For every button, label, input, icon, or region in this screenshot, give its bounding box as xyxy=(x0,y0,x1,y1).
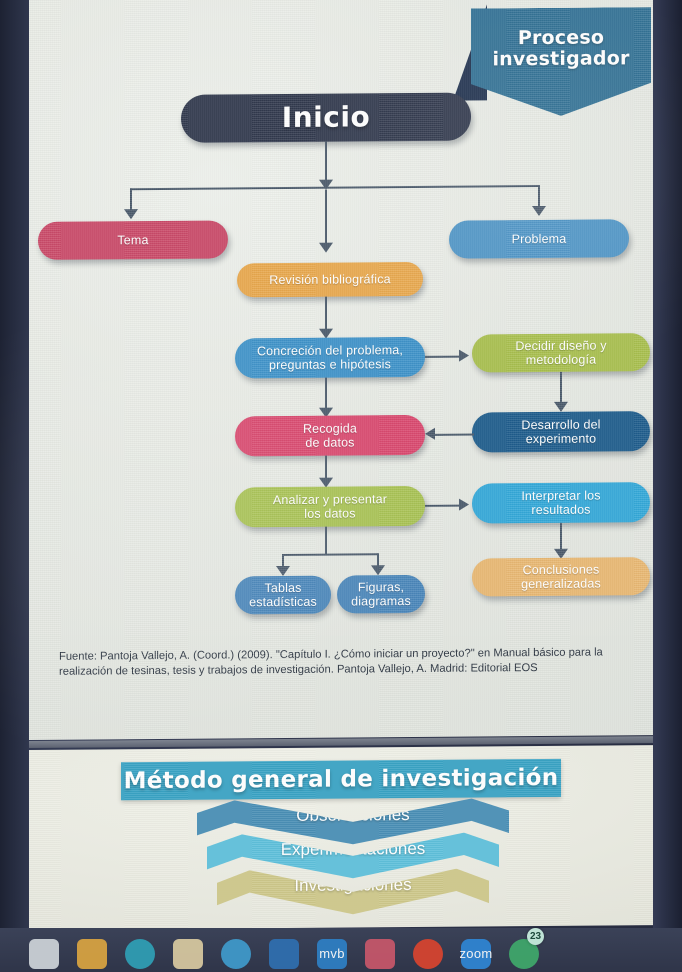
node-figuras-line-2: diagramas xyxy=(351,594,411,609)
arrow-to-tema xyxy=(124,209,138,219)
books-icon[interactable] xyxy=(365,939,395,969)
connector-analizar-down xyxy=(325,527,327,555)
arrow-to-problema xyxy=(532,206,546,216)
node-figuras-diagramas: Figuras, diagramas xyxy=(337,575,425,614)
connector-desarrollo-to-recogida xyxy=(434,434,474,436)
mvb-app-icon[interactable]: mvb xyxy=(317,939,347,969)
arrow-to-desarrollo xyxy=(554,402,568,412)
briefcase-icon[interactable] xyxy=(173,939,203,969)
arrow-to-interpretar xyxy=(459,499,469,511)
taskbar-item-outlook[interactable] xyxy=(262,931,306,970)
media-disc-icon[interactable] xyxy=(125,939,155,969)
node-inicio: Inicio xyxy=(181,93,471,143)
node-concrecion-line-1: Concreción del problema, xyxy=(257,343,403,359)
connector-concrecion-to-recogida xyxy=(325,378,327,410)
taskbar-item-chrome[interactable] xyxy=(406,931,450,970)
slide-proceso-investigador: Proceso investigador Inicio Tema xyxy=(29,0,653,740)
taskbar-item-briefcase[interactable] xyxy=(166,931,210,970)
connector-recogida-to-analizar xyxy=(325,456,327,480)
connector-decidir-to-desarrollo xyxy=(560,372,562,404)
connector-concrecion-to-decidir xyxy=(425,356,461,358)
taskbar-item-whatsapp[interactable]: 23 xyxy=(502,931,546,970)
node-concrecion: Concreción del problema, preguntas e hip… xyxy=(235,337,425,378)
node-problema: Problema xyxy=(449,219,629,258)
node-concrecion-line-2: preguntas e hipótesis xyxy=(269,357,391,372)
node-desarrollo-line-2: experimento xyxy=(526,432,596,447)
node-revision-bibliografica: Revisión bibliográfica xyxy=(237,262,423,297)
node-tema-label: Tema xyxy=(117,233,148,248)
taskbar-item-mvb-app[interactable]: mvb xyxy=(310,931,354,970)
connector-bus-right-drop xyxy=(538,185,540,208)
arrow-to-tablas xyxy=(276,566,290,576)
connector-revision-to-concrecion xyxy=(325,297,327,331)
connector-bus-horizontal xyxy=(130,185,539,190)
arrow-to-recogida-left xyxy=(425,428,435,440)
arrow-bus-center-tick xyxy=(319,180,333,190)
paint-icon[interactable] xyxy=(221,939,251,969)
taskbar-item-start-button[interactable] xyxy=(22,931,66,970)
taskbar-item-zoom[interactable]: zoom xyxy=(454,931,498,970)
taskbar[interactable]: mvb zoom 23 xyxy=(0,928,682,972)
connector-interpretar-to-conclusiones xyxy=(560,523,562,551)
taskbar-item-file-explorer[interactable] xyxy=(70,931,114,970)
start-button-icon[interactable] xyxy=(29,939,59,969)
node-analizar-line-2: los datos xyxy=(304,506,355,521)
source-citation: Fuente: Pantoja Vallejo, A. (Coord.) (20… xyxy=(59,645,639,679)
node-recogida-line-1: Recogida xyxy=(303,421,357,436)
node-tablas-line-2: estadísticas xyxy=(249,595,317,610)
node-recogida-datos: Recogida de datos xyxy=(235,415,425,456)
node-conclusiones-generalizadas: Conclusiones generalizadas xyxy=(472,557,650,596)
slide-metodo-general: Método general de investigación Observac… xyxy=(29,745,653,930)
taskbar-item-paint[interactable] xyxy=(214,931,258,970)
node-figuras-line-1: Figuras, xyxy=(358,580,404,595)
arrow-to-decidir xyxy=(459,350,469,362)
node-interpretar-resultados: Interpretar los resultados xyxy=(472,482,650,523)
bezel-right xyxy=(653,0,682,930)
node-desarrollo-line-1: Desarrollo del xyxy=(521,417,600,432)
connector-center-to-revision xyxy=(325,190,327,245)
zoom-icon[interactable]: zoom xyxy=(461,939,491,969)
connector-bus-left-drop xyxy=(130,188,132,211)
outlook-icon[interactable] xyxy=(269,939,299,969)
node-tablas-line-1: Tablas xyxy=(264,580,301,595)
connector-analizar-to-interpretar xyxy=(425,505,461,507)
taskbar-item-media-disc[interactable] xyxy=(118,931,162,970)
node-decidir-line-1: Decidir diseño y xyxy=(515,338,606,353)
banner-line-1: Proceso xyxy=(518,27,604,49)
band-observaciones-label: Observaciones xyxy=(296,805,409,826)
file-explorer-icon[interactable] xyxy=(77,939,107,969)
node-analizar-line-1: Analizar y presentar xyxy=(273,492,387,507)
slide2-title-label: Método general de investigación xyxy=(124,765,559,794)
node-decidir-line-2: metodología xyxy=(526,353,596,368)
banner-proceso-investigador: Proceso investigador xyxy=(453,0,653,139)
taskbar-item-books[interactable] xyxy=(358,931,402,970)
node-desarrollo-experimento: Desarrollo del experimento xyxy=(472,411,650,452)
node-inicio-label: Inicio xyxy=(282,101,370,134)
connector-split-horizontal xyxy=(282,553,378,556)
whatsapp-unread-badge: 23 xyxy=(527,928,544,945)
banner-pentagon: Proceso investigador xyxy=(471,7,651,116)
node-conclusiones-line-1: Conclusiones xyxy=(523,562,600,577)
screen-photo: Proceso investigador Inicio Tema xyxy=(0,0,682,972)
banner-line-2: investigador xyxy=(492,49,629,71)
node-problema-label: Problema xyxy=(512,232,567,247)
node-interpretar-line-1: Interpretar los xyxy=(521,488,600,503)
arrow-to-figuras xyxy=(371,565,385,575)
node-conclusiones-line-2: generalizadas xyxy=(521,577,601,592)
node-decidir-diseno: Decidir diseño y metodología xyxy=(472,333,650,372)
bezel-left xyxy=(0,0,29,930)
slide2-title: Método general de investigación xyxy=(121,759,561,800)
node-tablas-estadisticas: Tablas estadísticas xyxy=(235,576,331,615)
node-tema: Tema xyxy=(38,220,228,259)
arrow-to-revision xyxy=(319,243,333,253)
chrome-icon[interactable] xyxy=(413,939,443,969)
node-interpretar-line-2: resultados xyxy=(531,503,590,518)
node-revision-label: Revisión bibliográfica xyxy=(269,272,390,287)
node-analizar-presentar: Analizar y presentar los datos xyxy=(235,486,425,527)
node-recogida-line-2: de datos xyxy=(305,435,354,450)
